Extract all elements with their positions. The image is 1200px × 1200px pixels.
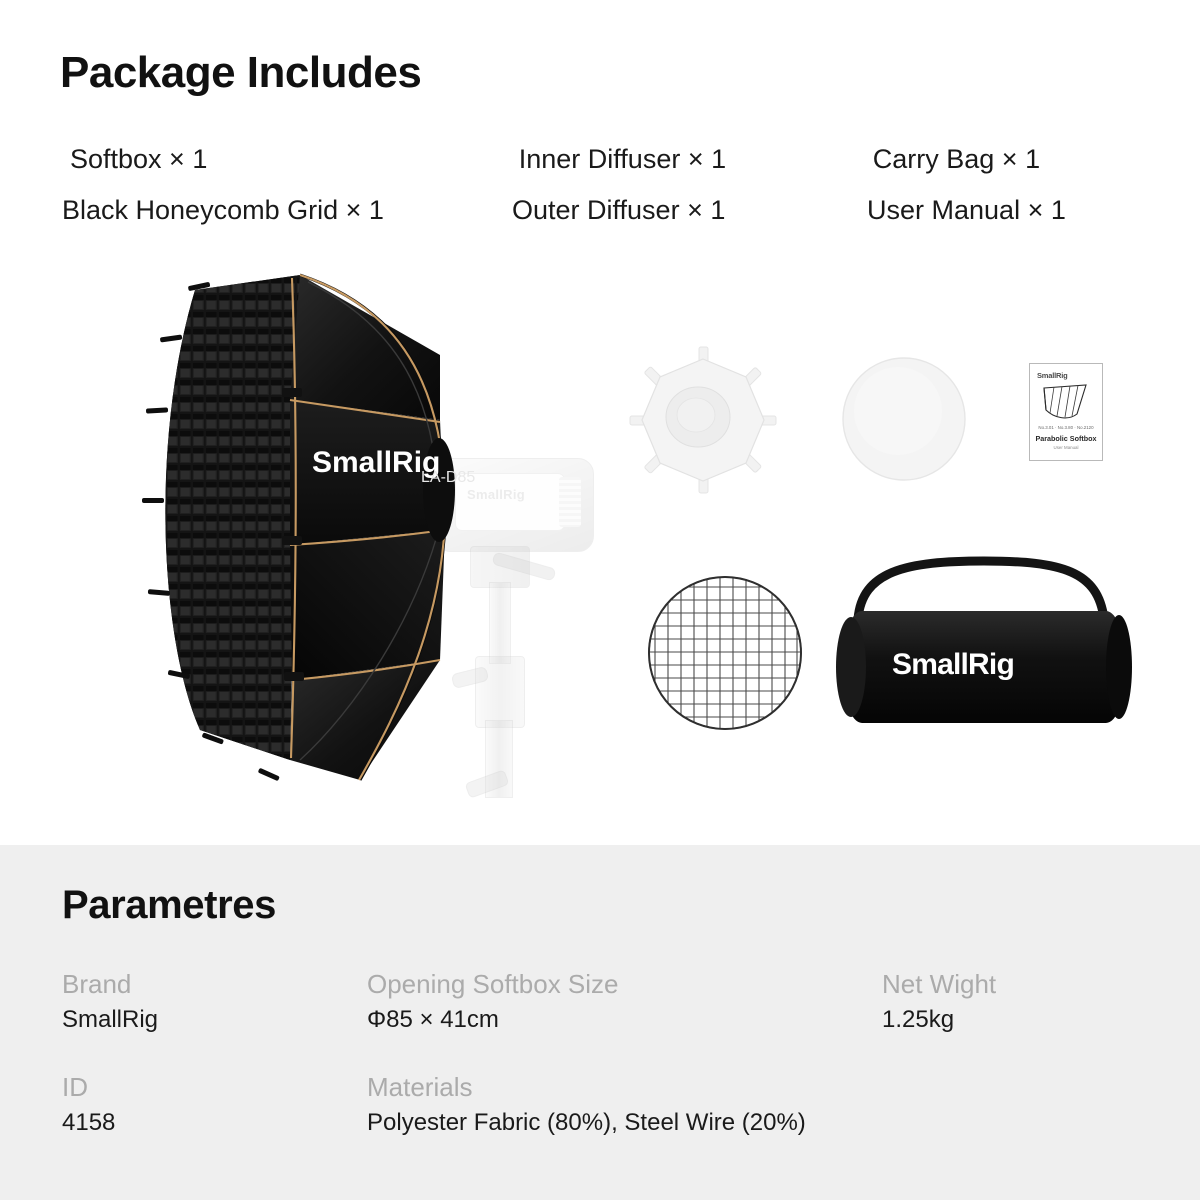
outer-diffuser-illustration: [840, 355, 968, 483]
param-opening-softbox-size: Opening Softbox Size Φ85 × 41cm: [367, 967, 882, 1038]
param-id-label: ID: [62, 1070, 367, 1105]
param-id: ID 4158: [62, 1070, 367, 1141]
package-list-row: Softbox × 1 Inner Diffuser × 1 Carry Bag…: [62, 134, 1152, 185]
param-materials-value: Polyester Fabric (80%), Steel Wire (20%): [367, 1105, 882, 1141]
param-brand-value: SmallRig: [62, 1002, 367, 1038]
param-brand: Brand SmallRig: [62, 967, 367, 1038]
parametres-section: Parametres Brand SmallRig Opening Softbo…: [0, 845, 1200, 1200]
carry-bag-end-left: [836, 617, 866, 717]
param-opening-softbox-size-value: Φ85 × 41cm: [367, 1002, 882, 1038]
parametres-row: ID 4158 Materials Polyester Fabric (80%)…: [62, 1070, 1152, 1141]
package-item-honeycomb-grid: Black Honeycomb Grid × 1: [62, 195, 512, 226]
softbox-illustration: SmallRig LA-D85: [140, 260, 610, 820]
softbox-model-label: LA-D85: [421, 469, 475, 486]
parametres-row: Brand SmallRig Opening Softbox Size Φ85 …: [62, 967, 1152, 1038]
param-net-weight-value: 1.25kg: [882, 1002, 1152, 1038]
param-net-weight: Net Wight 1.25kg: [882, 967, 1152, 1038]
package-item-user-manual: User Manual × 1: [867, 195, 1147, 226]
honeycomb-grid-illustration: [645, 573, 805, 733]
softbox-assembly: SmallRig: [140, 260, 610, 820]
parametres-grid: Brand SmallRig Opening Softbox Size Φ85 …: [62, 967, 1152, 1173]
softbox-panel-upper: [290, 275, 440, 420]
package-list-row: Black Honeycomb Grid × 1 Outer Diffuser …: [62, 185, 1152, 236]
package-item-outer-diffuser: Outer Diffuser × 1: [512, 195, 867, 226]
parametres-title: Parametres: [62, 883, 276, 928]
manual-softbox-drawing: [1030, 380, 1102, 426]
package-item-softbox: Softbox × 1: [62, 144, 519, 175]
package-includes-list: Softbox × 1 Inner Diffuser × 1 Carry Bag…: [62, 134, 1152, 236]
param-brand-label: Brand: [62, 967, 367, 1002]
manual-subtitle-label: User Manual: [1030, 445, 1102, 450]
carry-bag-end-right: [1106, 615, 1132, 719]
manual-title-label: Parabolic Softbox: [1030, 434, 1102, 443]
package-item-inner-diffuser: Inner Diffuser × 1: [519, 144, 873, 175]
manual-brand-label: SmallRig: [1037, 371, 1068, 380]
param-materials: Materials Polyester Fabric (80%), Steel …: [367, 1070, 882, 1141]
softbox-panel-lower: [290, 530, 445, 680]
param-empty: [882, 1070, 1152, 1141]
package-item-carry-bag: Carry Bag × 1: [873, 144, 1152, 175]
package-includes-title: Package Includes: [60, 48, 421, 98]
param-materials-label: Materials: [367, 1070, 882, 1105]
param-net-weight-label: Net Wight: [882, 967, 1152, 1002]
inner-diffuser-illustration: [628, 345, 778, 495]
param-opening-softbox-size-label: Opening Softbox Size: [367, 967, 882, 1002]
product-image-stage: SmallRig: [0, 255, 1200, 830]
param-id-value: 4158: [62, 1105, 367, 1141]
package-includes-section: Package Includes Softbox × 1 Inner Diffu…: [0, 0, 1200, 845]
manual-model-numbers: No.3.01 · No.3.80 · No.2120: [1030, 425, 1102, 430]
user-manual-illustration: SmallRig No.3.01 · No.3.80 · No.2120 Par…: [1029, 363, 1101, 459]
manual-cover: SmallRig No.3.01 · No.3.80 · No.2120 Par…: [1029, 363, 1103, 461]
carry-bag-illustration: SmallRig: [836, 555, 1132, 735]
carry-bag-brand-logo: SmallRig: [892, 648, 1014, 682]
